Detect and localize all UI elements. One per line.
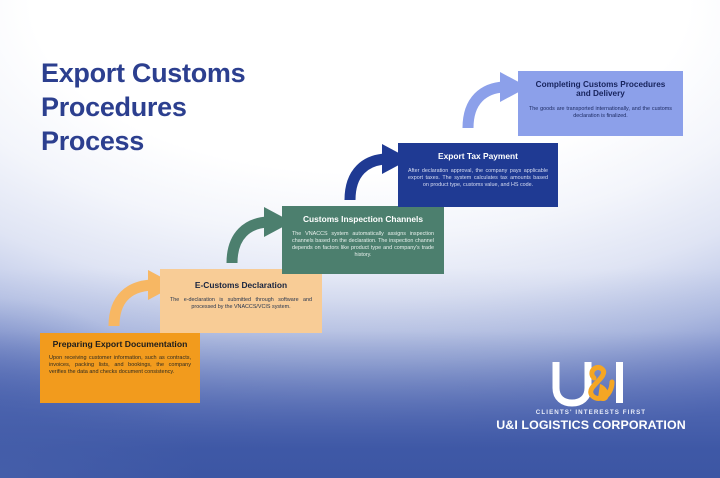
- step-5-body: The goods are transported internationall…: [529, 106, 672, 120]
- page-title-line-3: Process: [41, 124, 341, 158]
- step-5-title-line-2: and Delivery: [576, 89, 625, 98]
- logo-company-name: U&I LOGISTICS CORPORATION: [496, 418, 686, 432]
- step-5-title-line-1: Completing Customs Procedures: [536, 80, 666, 89]
- step-2-title: E-Customs Declaration: [170, 281, 312, 291]
- step-card-customs-inspection-channels[interactable]: Customs Inspection Channels The VNACCS s…: [282, 206, 444, 274]
- page-title-line-1: Export Customs: [41, 56, 341, 90]
- step-card-export-tax-payment[interactable]: Export Tax Payment After declaration app…: [398, 143, 558, 207]
- step-4-body: After declaration approval, the company …: [408, 168, 548, 189]
- page-title: Export Customs Procedures Process: [41, 56, 341, 158]
- company-logo: CLIENTS' INTERESTS FIRST U&I LOGISTICS C…: [496, 358, 686, 432]
- page-title-line-2: Procedures: [41, 90, 341, 124]
- step-card-e-customs-declaration[interactable]: E-Customs Declaration The e-declaration …: [160, 269, 322, 333]
- step-1-title: Preparing Export Documentation: [49, 340, 191, 350]
- step-card-preparing-export-documentation[interactable]: Preparing Export Documentation Upon rece…: [40, 333, 200, 403]
- step-1-body: Upon receiving customer information, suc…: [49, 355, 191, 377]
- step-2-body: The e-declaration is submitted through s…: [170, 297, 312, 311]
- logo-tagline: CLIENTS' INTERESTS FIRST: [496, 409, 686, 416]
- step-card-completing-customs-procedures-and-delivery[interactable]: Completing Customs Procedures and Delive…: [518, 71, 683, 136]
- infographic-canvas: Export Customs Procedures Process Prepar…: [0, 0, 720, 478]
- step-5-title: Completing Customs Procedures and Delive…: [529, 80, 672, 99]
- step-3-body: The VNACCS system automatically assigns …: [292, 231, 434, 260]
- logo-mark-icon: [496, 358, 686, 408]
- step-4-title: Export Tax Payment: [408, 152, 548, 162]
- step-3-title: Customs Inspection Channels: [292, 215, 434, 225]
